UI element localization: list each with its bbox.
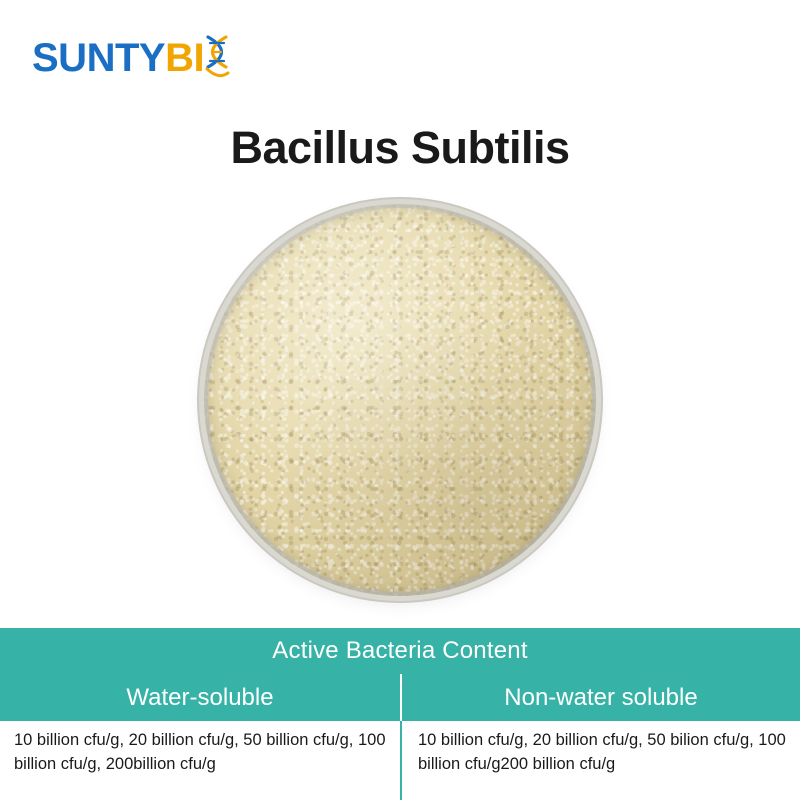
product-banner: SUNTY BI Bacillus Subtilis Active Bacter… <box>0 0 800 800</box>
petri-dish-rim <box>204 204 596 596</box>
spec-value-non-water-soluble: 10 billion cfu/g, 20 billion cfu/g, 50 b… <box>400 721 800 800</box>
page-title: Bacillus Subtilis <box>0 122 800 174</box>
petri-dish-powder <box>204 204 596 596</box>
spec-column-header-non-water-soluble: Non-water soluble <box>400 674 800 721</box>
brand-name-accent: BI <box>165 38 204 78</box>
spec-value-water-soluble: 10 billion cfu/g, 20 billion cfu/g, 50 b… <box>0 721 400 800</box>
brand-name-primary: SUNTY <box>32 38 165 78</box>
brand-logo: SUNTY BI <box>32 32 232 84</box>
spec-column-header-water-soluble: Water-soluble <box>0 674 400 721</box>
spec-table-header: Active Bacteria Content <box>0 628 800 674</box>
spec-table-values: 10 billion cfu/g, 20 billion cfu/g, 50 b… <box>0 721 800 800</box>
product-image <box>0 200 800 600</box>
spec-table: Active Bacteria Content Water-soluble No… <box>0 628 800 800</box>
dna-helix-icon <box>202 33 232 83</box>
spec-table-column-headers: Water-soluble Non-water soluble <box>0 674 800 721</box>
